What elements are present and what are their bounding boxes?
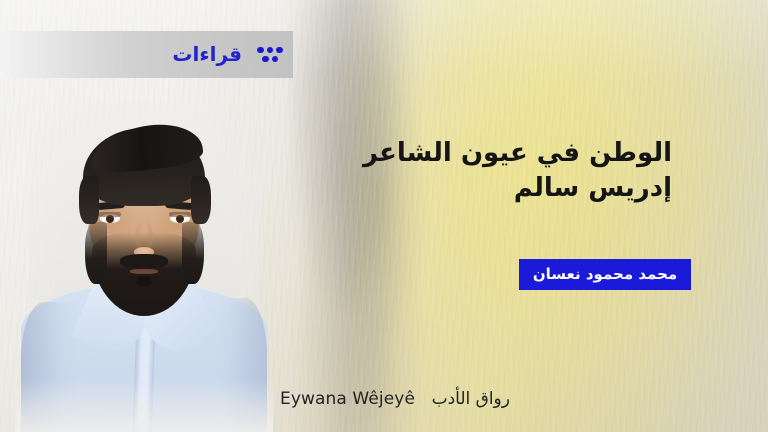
hair-sideburn-right xyxy=(191,176,211,224)
footer-credit: Eywana Wêjeyê رواق الأدب xyxy=(0,389,768,409)
dot xyxy=(272,56,279,63)
dots-grid-icon xyxy=(256,45,284,65)
moustache xyxy=(120,254,168,268)
headline: الوطن في عيون الشاعر إدريس سالم xyxy=(342,136,672,205)
dot xyxy=(262,56,269,63)
headline-line-2: إدريس سالم xyxy=(342,171,672,206)
footer-credit-arabic: رواق الأدب xyxy=(432,389,510,409)
dots-row-bottom xyxy=(262,56,278,63)
dot xyxy=(276,47,283,54)
dot xyxy=(257,47,264,54)
eyelid-right xyxy=(169,212,191,217)
footer-credit-latin: Eywana Wêjeyê xyxy=(280,389,415,409)
eyelid-left xyxy=(99,212,121,217)
portrait-photo xyxy=(29,102,259,432)
poster-canvas: قراءات الوطن في عيون الشاعر إدريس سالم م… xyxy=(0,0,768,432)
author-name: محمد محمود نعسان xyxy=(533,267,677,282)
dots-row-top xyxy=(257,47,283,54)
dot xyxy=(267,47,274,54)
beard-jawline-left xyxy=(85,222,107,284)
author-name-banner: محمد محمود نعسان xyxy=(519,259,691,290)
hair-sideburn-left xyxy=(79,176,99,224)
brand-label: قراءات xyxy=(172,44,242,64)
soul-patch xyxy=(137,276,152,286)
beard-jawline-right xyxy=(182,222,204,284)
brand-bar[interactable]: قراءات xyxy=(0,31,293,78)
mouth xyxy=(130,269,158,274)
headline-line-1: الوطن في عيون الشاعر xyxy=(342,136,672,171)
